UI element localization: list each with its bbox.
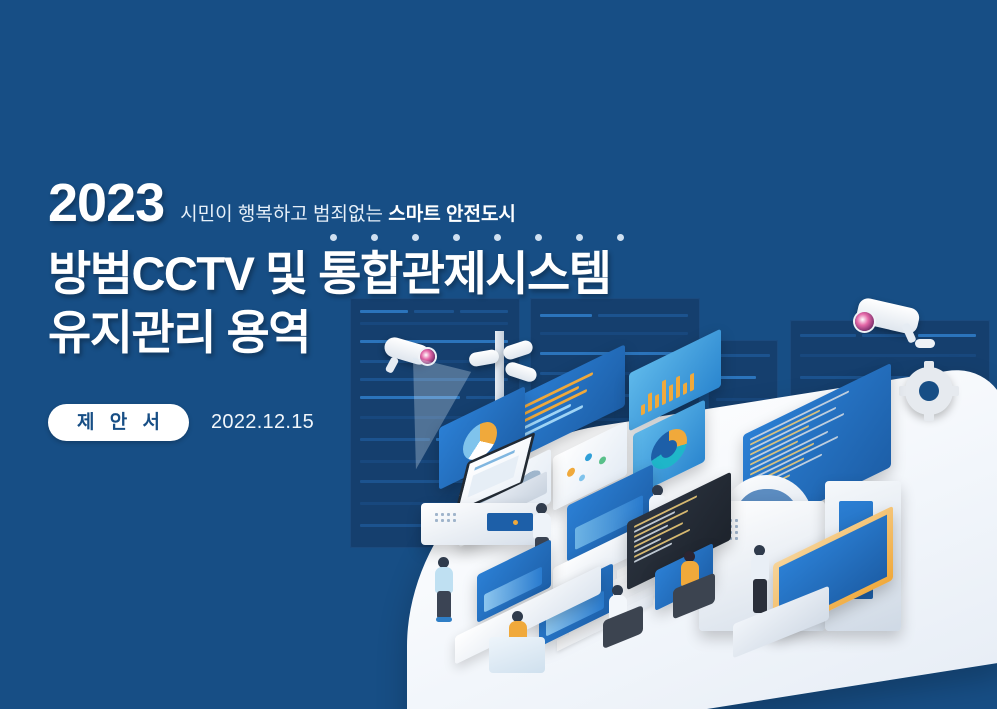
- title-line-1: 방범CCTV 및 통합관제시스템: [48, 244, 668, 303]
- cover-text-block: 2023 시민이 행복하고 범죄없는 스마트 안전도시 방범CCTV 및 통합관…: [48, 176, 668, 441]
- title-line-2: 유지관리 용역: [48, 303, 668, 362]
- eyebrow-row: 2023 시민이 행복하고 범죄없는 스마트 안전도시: [48, 176, 668, 230]
- meta-row: 제 안 서 2022.12.15: [48, 404, 668, 441]
- gear-icon: [905, 367, 953, 415]
- desktop-server-box: [421, 503, 541, 545]
- page-title: 방범CCTV 및 통합관제시스템 유지관리 용역: [48, 244, 668, 362]
- office-chair: [489, 637, 545, 673]
- presentation-cover-slide: 2023 시민이 행복하고 범죄없는 스마트 안전도시 방범CCTV 및 통합관…: [0, 0, 997, 709]
- year-label: 2023: [48, 176, 164, 230]
- tagline: 시민이 행복하고 범죄없는 스마트 안전도시: [180, 205, 516, 230]
- tagline-strong: 스마트 안전도시: [388, 204, 516, 225]
- document-date: 2022.12.15: [211, 411, 314, 434]
- document-type-badge: 제 안 서: [48, 404, 189, 441]
- tagline-normal: 시민이 행복하고 범죄없는: [180, 204, 388, 225]
